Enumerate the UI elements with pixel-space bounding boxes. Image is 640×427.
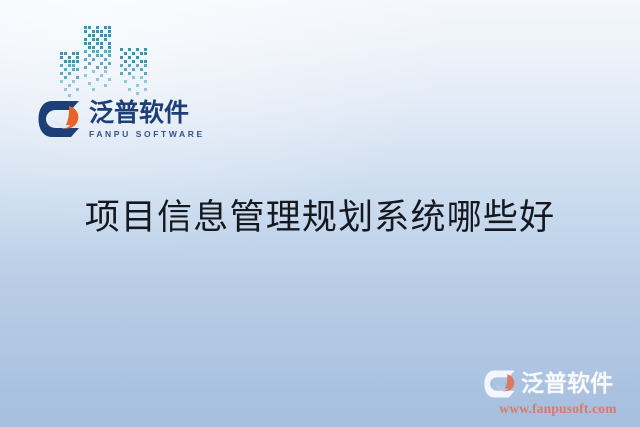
brand-name-cn: 泛普软件 <box>89 100 205 126</box>
watermark-logo-mark-icon <box>484 369 517 399</box>
slide-canvas: 泛普软件 FANPU SOFTWARE 项目信息管理规划系统哪些好 泛普软件 w… <box>0 0 640 427</box>
page-title: 项目信息管理规划系统哪些好 <box>0 198 640 238</box>
watermark-brand-name: 泛普软件 <box>521 373 613 396</box>
watermark-url: www.fanpusoft.com <box>484 401 632 417</box>
pixel-building-skyline-icon <box>58 24 154 102</box>
fanpu-logo-mark-icon <box>38 99 82 139</box>
brand-wordmark: 泛普软件 FANPU SOFTWARE <box>89 100 205 139</box>
watermark: 泛普软件 www.fanpusoft.com <box>484 369 632 417</box>
watermark-logo-row: 泛普软件 <box>484 369 632 399</box>
brand-logo: 泛普软件 FANPU SOFTWARE <box>38 99 205 139</box>
brand-name-en: FANPU SOFTWARE <box>89 130 205 139</box>
